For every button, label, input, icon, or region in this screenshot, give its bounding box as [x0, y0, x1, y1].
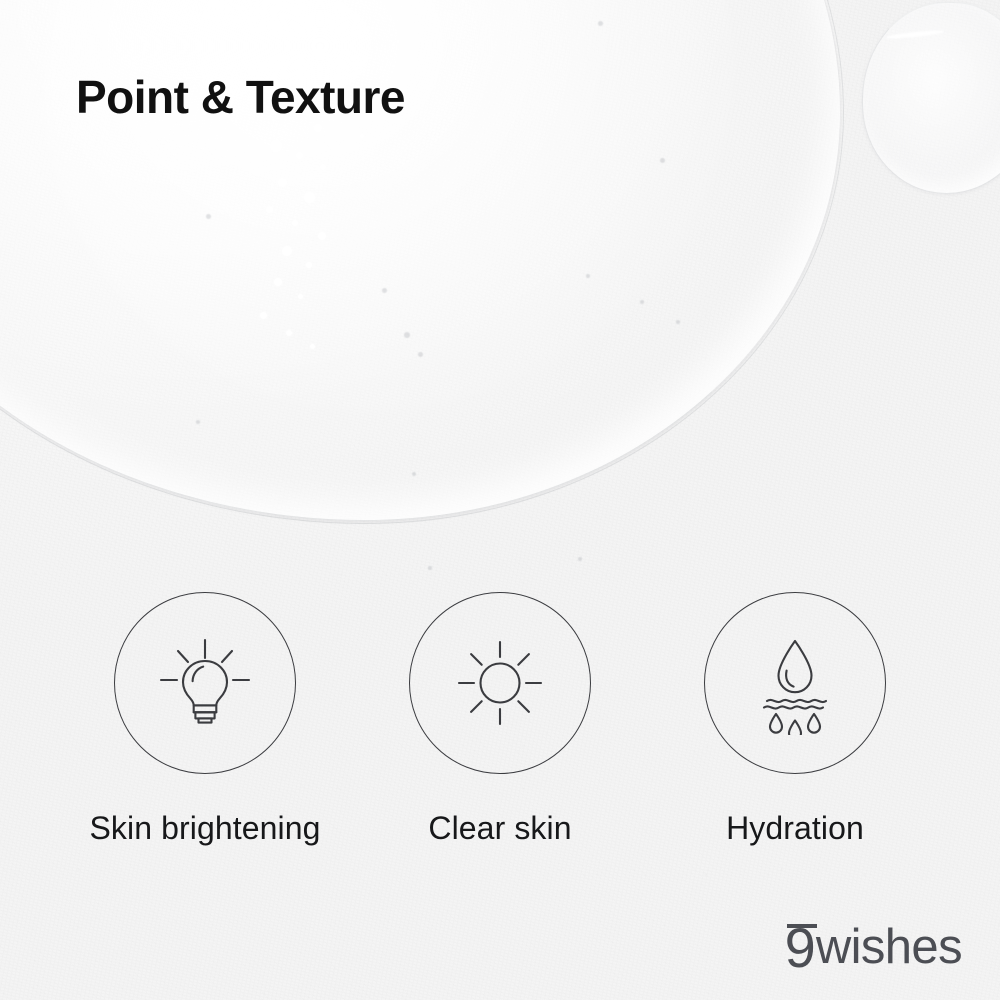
brand-logo-numeral: 9	[785, 922, 815, 974]
feature-icon-ring	[114, 592, 296, 774]
product-feature-banner: Point & Texture	[0, 0, 1000, 1000]
feature-item-clear-skin[interactable]: Clear skin	[409, 592, 591, 847]
feature-icon-ring	[409, 592, 591, 774]
gel-spot	[196, 420, 200, 424]
feature-label: Skin brightening	[89, 810, 320, 847]
bubble-streak	[240, 0, 450, 382]
gel-spot	[660, 158, 665, 163]
feature-item-hydration[interactable]: Hydration	[704, 592, 886, 847]
gel-spot	[428, 566, 432, 570]
gel-spot	[598, 21, 603, 26]
gel-spot	[412, 472, 416, 476]
feature-item-skin-brightening[interactable]: Skin brightening	[114, 592, 296, 847]
feature-icon-ring	[704, 592, 886, 774]
lightbulb-icon	[153, 631, 257, 735]
gel-spot	[578, 557, 582, 561]
feature-label: Clear skin	[428, 810, 571, 847]
gel-spot	[382, 288, 387, 293]
gel-spot	[640, 300, 644, 304]
gel-spot	[418, 352, 423, 357]
page-title: Point & Texture	[76, 70, 405, 124]
brand-logo-word: wishes	[816, 922, 962, 973]
gel-spot	[586, 274, 590, 278]
feature-list: Skin brightening	[0, 592, 1000, 847]
sun-icon	[448, 631, 552, 735]
gel-spot	[206, 214, 211, 219]
gel-spot	[676, 320, 680, 324]
brand-logo[interactable]: 9 wishes	[785, 922, 962, 974]
brand-logo-overline	[787, 924, 817, 928]
water-drop-icon	[743, 631, 847, 735]
feature-label: Hydration	[726, 810, 864, 847]
gel-spot	[404, 332, 410, 338]
